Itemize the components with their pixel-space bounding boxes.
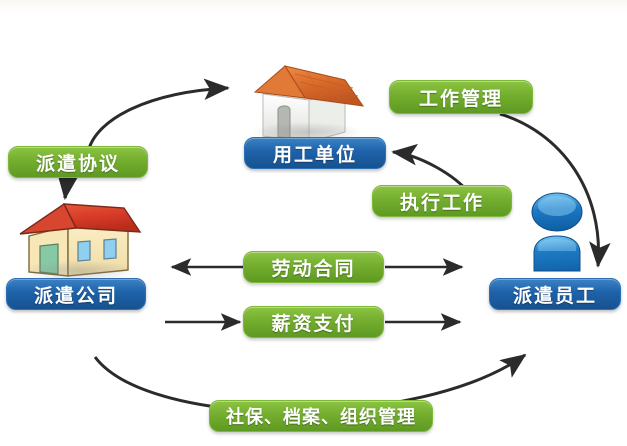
relation-work-management[interactable]: 工作管理 <box>389 80 533 114</box>
dispatch-company-house-icon <box>16 196 142 281</box>
diagram-canvas: 用工单位 <box>0 0 627 446</box>
relation-dispatch-agreement[interactable]: 派遣协议 <box>8 146 148 178</box>
relation-social-security[interactable]: 社保、档案、组织管理 <box>209 400 433 432</box>
labor-contract-label: 劳动合同 <box>271 254 355 281</box>
dispatched-employee-person-icon <box>524 191 590 279</box>
arrow-agreement-to-unit <box>88 88 228 152</box>
social-security-label: 社保、档案、组织管理 <box>226 403 416 429</box>
relation-labor-contract[interactable]: 劳动合同 <box>243 251 384 283</box>
relation-salary-payment[interactable]: 薪资支付 <box>243 306 384 338</box>
work-management-label: 工作管理 <box>419 84 503 111</box>
dispatched-employee-label: 派遣员工 <box>513 281 597 308</box>
node-dispatched-employee[interactable]: 派遣员工 <box>489 278 621 310</box>
execute-work-label: 执行工作 <box>400 188 484 215</box>
relation-execute-work[interactable]: 执行工作 <box>372 185 512 217</box>
employing-unit-label: 用工单位 <box>273 140 357 167</box>
employing-unit-house-icon <box>245 58 370 143</box>
node-employing-unit[interactable]: 用工单位 <box>244 137 386 169</box>
dispatch-company-label: 派遣公司 <box>34 281 118 308</box>
arrow-agreement-to-company <box>65 176 70 198</box>
dispatch-agreement-label: 派遣协议 <box>36 149 120 176</box>
node-dispatch-company[interactable]: 派遣公司 <box>6 278 146 310</box>
salary-payment-label: 薪资支付 <box>271 309 355 336</box>
